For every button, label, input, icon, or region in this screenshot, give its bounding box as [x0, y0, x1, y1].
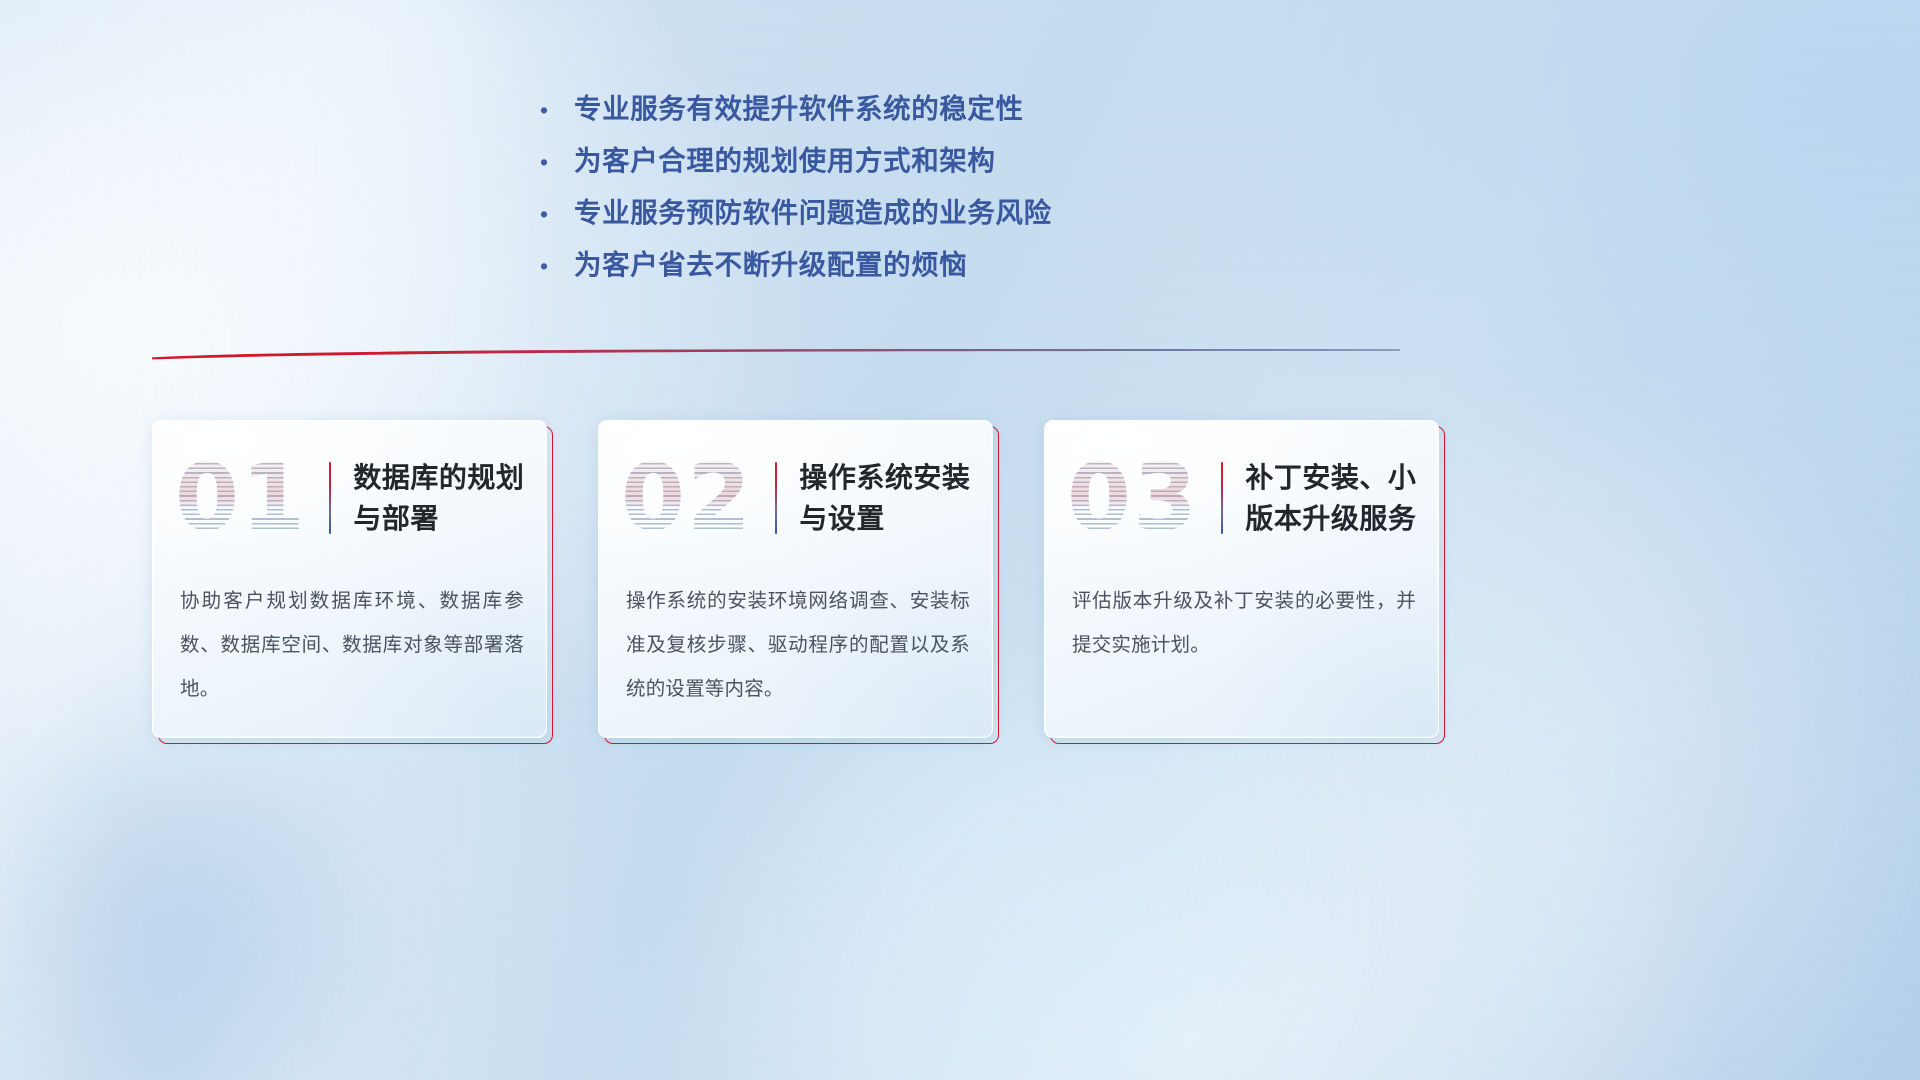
bullet-text: 为客户合理的规划使用方式和架构 — [574, 144, 996, 178]
list-item: • 专业服务预防软件问题造成的业务风险 — [540, 196, 1180, 248]
card-header: 02 02 操作系统安装与设置 — [599, 439, 993, 557]
card-divider-rule — [1221, 462, 1223, 534]
card-divider-rule — [329, 462, 331, 534]
card-title: 补丁安装、小版本升级服务 — [1245, 457, 1439, 539]
card-number-tint: 02 — [621, 444, 771, 552]
benefits-bullet-list: • 专业服务有效提升软件系统的稳定性 • 为客户合理的规划使用方式和架构 • 专… — [540, 92, 1180, 300]
bullet-dot-icon: • — [540, 249, 574, 283]
section-divider — [152, 348, 1400, 360]
card-number-tint: 03 — [1067, 444, 1217, 552]
card-number-watermark: 01 01 — [175, 444, 325, 552]
card-number-tint: 01 — [175, 444, 325, 552]
service-card-row: 01 01 数据库的规划与部署 协助客户规划数据库环境、数据库参数、数据库空间、… — [152, 420, 1452, 745]
service-card-01[interactable]: 01 01 数据库的规划与部署 协助客户规划数据库环境、数据库参数、数据库空间、… — [152, 420, 547, 738]
card-header: 01 01 数据库的规划与部署 — [153, 439, 547, 557]
bullet-text: 专业服务有效提升软件系统的稳定性 — [574, 92, 1024, 126]
card-surface: 01 01 数据库的规划与部署 协助客户规划数据库环境、数据库参数、数据库空间、… — [152, 420, 547, 738]
card-divider-rule — [775, 462, 777, 534]
bullet-dot-icon: • — [540, 93, 574, 127]
service-card-02[interactable]: 02 02 操作系统安装与设置 操作系统的安装环境网络调查、安装标准及复核步骤、… — [598, 420, 993, 738]
service-card-03[interactable]: 03 03 补丁安装、小版本升级服务 评估版本升级及补丁安装的必要性，并提交实施… — [1044, 420, 1439, 738]
card-header: 03 03 补丁安装、小版本升级服务 — [1045, 439, 1439, 557]
card-title: 数据库的规划与部署 — [353, 457, 547, 539]
list-item: • 为客户省去不断升级配置的烦恼 — [540, 248, 1180, 300]
list-item: • 为客户合理的规划使用方式和架构 — [540, 144, 1180, 196]
bullet-text: 为客户省去不断升级配置的烦恼 — [574, 248, 967, 282]
slide-canvas: • 专业服务有效提升软件系统的稳定性 • 为客户合理的规划使用方式和架构 • 专… — [0, 0, 1920, 1080]
card-description: 操作系统的安装环境网络调查、安装标准及复核步骤、驱动程序的配置以及系统的设置等内… — [626, 579, 970, 711]
card-description: 协助客户规划数据库环境、数据库参数、数据库空间、数据库对象等部署落地。 — [180, 579, 524, 711]
card-surface: 02 02 操作系统安装与设置 操作系统的安装环境网络调查、安装标准及复核步骤、… — [598, 420, 993, 738]
card-number-watermark: 03 03 — [1067, 444, 1217, 552]
bullet-text: 专业服务预防软件问题造成的业务风险 — [574, 196, 1052, 230]
card-description: 评估版本升级及补丁安装的必要性，并提交实施计划。 — [1072, 579, 1416, 667]
background-glow-left — [0, 700, 440, 1080]
card-number-watermark: 02 02 — [621, 444, 771, 552]
card-surface: 03 03 补丁安装、小版本升级服务 评估版本升级及补丁安装的必要性，并提交实施… — [1044, 420, 1439, 738]
bullet-dot-icon: • — [540, 197, 574, 231]
card-title: 操作系统安装与设置 — [799, 457, 993, 539]
bullet-dot-icon: • — [540, 145, 574, 179]
list-item: • 专业服务有效提升软件系统的稳定性 — [540, 92, 1180, 144]
